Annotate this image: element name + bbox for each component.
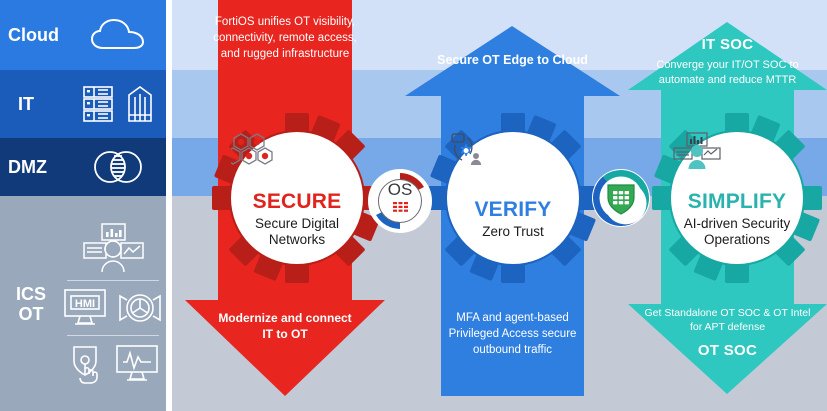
sidebar-icons-ot-group <box>66 342 160 386</box>
svg-text:HMI: HMI <box>75 298 95 310</box>
sidebar-label-ics: ICS <box>0 284 62 304</box>
sidebar-label-it: IT <box>0 94 70 115</box>
green-shield-icon <box>605 181 637 215</box>
arrow-secure-top-text: FortiOS unifies OT visibility, connectiv… <box>185 14 385 62</box>
gear-secure-title: SECURE <box>253 190 342 214</box>
industrial-valve-icon <box>116 287 164 329</box>
shield-touch-icon <box>66 342 106 386</box>
sidebar-icons-cloud <box>70 16 166 54</box>
gear-secure[interactable]: SECURE Secure Digital Networks <box>212 113 382 283</box>
sidebar-label-dmz: DMZ <box>0 157 70 178</box>
sidebar-icons-ics-group: HMI <box>62 287 164 329</box>
fortinet-mark-icon <box>393 200 408 218</box>
arrow-verify-top-text: Secure OT Edge to Cloud <box>405 52 620 69</box>
network-layers-sidebar: Cloud IT <box>0 0 166 411</box>
server-rack-icon <box>80 85 116 123</box>
gear-verify-subtitle: Zero Trust <box>474 224 552 240</box>
gear-secure-subtitle: Secure Digital Networks <box>231 216 363 248</box>
badge-fortios[interactable]: OS <box>368 169 432 233</box>
gear-simplify-face: SIMPLIFY AI-driven Security Operations <box>671 132 803 264</box>
sidebar-divider-1 <box>67 280 159 281</box>
office-building-icon <box>124 85 156 123</box>
arrow-verify-bottom-text: MFA and agent-based Privileged Access se… <box>405 310 620 358</box>
sidebar-row-ics-ot: ICS OT <box>0 196 166 411</box>
sidebar-row-it: IT <box>0 70 166 138</box>
cloud-icon <box>89 16 147 54</box>
sidebar-icons-dmz <box>70 148 166 186</box>
waveform-monitor-icon <box>114 343 160 385</box>
ot-security-diagram: Cloud IT <box>0 0 827 411</box>
gear-simplify[interactable]: SIMPLIFY AI-driven Security Operations <box>652 113 822 283</box>
sidebar-label-ot: OT <box>0 304 62 324</box>
sidebar-row-cloud: Cloud <box>0 0 166 70</box>
arrow-simplify-top-text: Converge your IT/OT SOC to automate and … <box>628 58 827 88</box>
gear-simplify-title: SIMPLIFY <box>688 190 786 214</box>
sidebar-divider-2 <box>67 335 159 336</box>
hmi-monitor-icon: HMI <box>62 287 108 329</box>
arrow-simplify-top-title: IT SOC <box>628 36 827 53</box>
sidebar-icons-it <box>70 85 166 123</box>
operator-dashboard-icon <box>80 222 146 274</box>
sidebar-label-cloud: Cloud <box>0 25 70 46</box>
sidebar-icons-ics-ot: HMI <box>62 222 168 386</box>
sidebar-row-dmz: DMZ <box>0 138 166 196</box>
arrow-secure-bottom-text: Modernize and connect IT to OT <box>185 310 385 342</box>
gear-verify-face: VERIFY Zero Trust <box>447 132 579 264</box>
gear-verify-title: VERIFY <box>474 198 551 222</box>
badge-fortiguard[interactable] <box>592 169 650 227</box>
arrow-simplify-bottom-text: Get Standalone OT SOC & OT Intel for APT… <box>628 306 827 334</box>
gear-verify[interactable]: VERIFY Zero Trust <box>428 113 598 283</box>
gear-simplify-subtitle: AI-driven Security Operations <box>671 216 803 248</box>
sidebar-label-ics-ot: ICS OT <box>0 284 62 324</box>
badge-fortios-label: OS <box>388 181 413 198</box>
gear-secure-face: SECURE Secure Digital Networks <box>231 132 363 264</box>
venn-overlap-icon <box>88 148 148 186</box>
arrow-simplify-bottom-title: OT SOC <box>628 342 827 359</box>
